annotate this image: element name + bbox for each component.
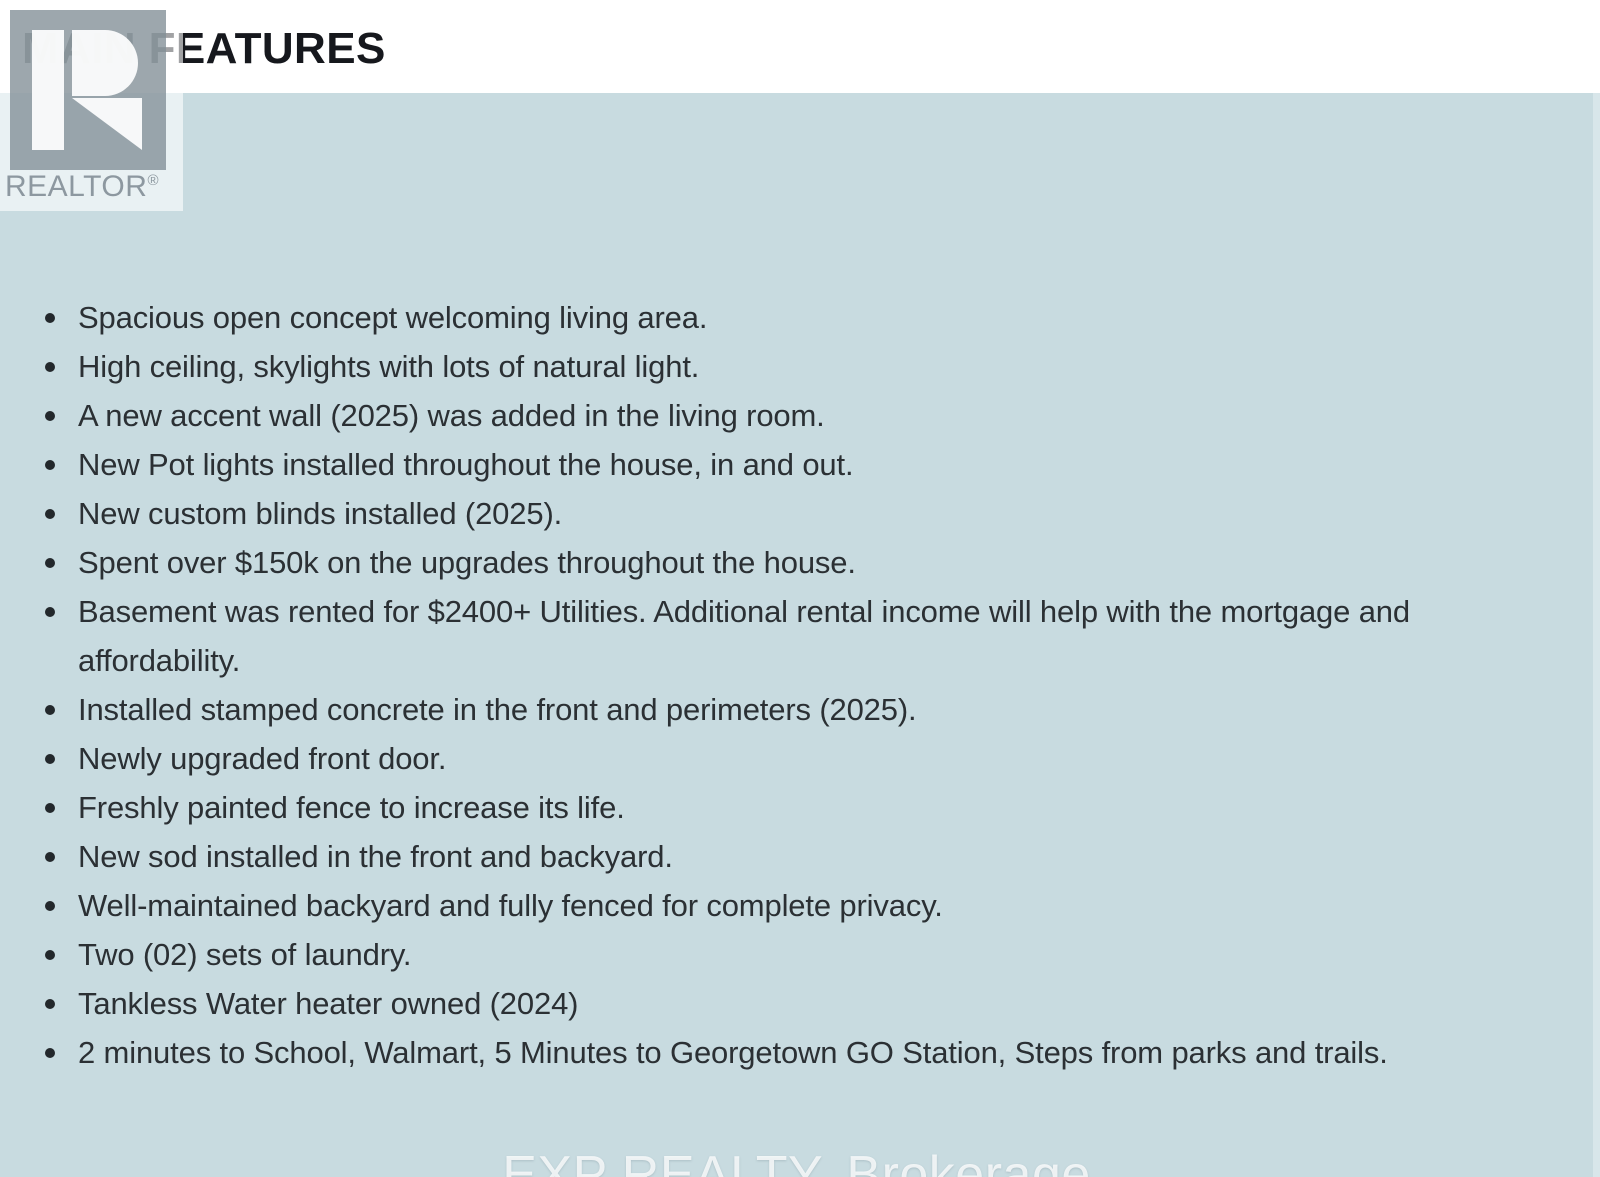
bullet-icon [45, 411, 55, 421]
list-item: High ceiling, skylights with lots of nat… [0, 342, 1480, 391]
list-item-label: New Pot lights installed throughout the … [78, 447, 853, 482]
bullet-icon [45, 901, 55, 911]
list-item-label: Spent over $150k on the upgrades through… [78, 545, 856, 580]
list-item-label: Well-maintained backyard and fully fence… [78, 888, 943, 923]
bullet-icon [45, 999, 55, 1009]
list-item-label: Two (02) sets of laundry. [78, 937, 411, 972]
list-item: Installed stamped concrete in the front … [0, 685, 1480, 734]
list-item: New Pot lights installed throughout the … [0, 440, 1480, 489]
bullet-icon [45, 705, 55, 715]
list-item-label: High ceiling, skylights with lots of nat… [78, 349, 699, 384]
list-item: 2 minutes to School, Walmart, 5 Minutes … [0, 1028, 1480, 1077]
list-item: Tankless Water heater owned (2024) [0, 979, 1480, 1028]
list-item-label: Basement was rented for $2400+ Utilities… [78, 594, 1410, 678]
list-item: Newly upgraded front door. [0, 734, 1480, 783]
features-panel: Spacious open concept welcoming living a… [0, 93, 1593, 1177]
list-item: New custom blinds installed (2025). [0, 489, 1480, 538]
list-item-label: Installed stamped concrete in the front … [78, 692, 917, 727]
list-item-label: New custom blinds installed (2025). [78, 496, 562, 531]
bullet-icon [45, 950, 55, 960]
header-band: MAIN FEATURES [0, 0, 1600, 93]
bullet-icon [45, 313, 55, 323]
list-item-label: A new accent wall (2025) was added in th… [78, 398, 825, 433]
bullet-icon [45, 1048, 55, 1058]
list-item-label: New sod installed in the front and backy… [78, 839, 673, 874]
page-title: MAIN FEATURES [22, 27, 386, 71]
bullet-icon [45, 607, 55, 617]
list-item-label: Tankless Water heater owned (2024) [78, 986, 578, 1021]
list-item: A new accent wall (2025) was added in th… [0, 391, 1480, 440]
list-item: New sod installed in the front and backy… [0, 832, 1480, 881]
bullet-icon [45, 509, 55, 519]
list-item: Freshly painted fence to increase its li… [0, 783, 1480, 832]
bullet-icon [45, 852, 55, 862]
brokerage-watermark: EXP REALTY, Brokerage [0, 1145, 1593, 1177]
feature-list: Spacious open concept welcoming living a… [0, 293, 1480, 1077]
bullet-icon [45, 803, 55, 813]
list-item: Basement was rented for $2400+ Utilities… [0, 587, 1480, 685]
list-item-label: 2 minutes to School, Walmart, 5 Minutes … [78, 1035, 1388, 1070]
bullet-icon [45, 558, 55, 568]
feature-sheet-page: MAIN FEATURES Spacious open concept welc… [0, 0, 1600, 1177]
list-item-label: Newly upgraded front door. [78, 741, 446, 776]
list-item: Spent over $150k on the upgrades through… [0, 538, 1480, 587]
list-item-label: Freshly painted fence to increase its li… [78, 790, 625, 825]
list-item: Two (02) sets of laundry. [0, 930, 1480, 979]
list-item-label: Spacious open concept welcoming living a… [78, 300, 707, 335]
bullet-icon [45, 754, 55, 764]
bullet-icon [45, 362, 55, 372]
bullet-icon [45, 460, 55, 470]
list-item: Well-maintained backyard and fully fence… [0, 881, 1480, 930]
list-item: Spacious open concept welcoming living a… [0, 293, 1480, 342]
right-edge-strip [1593, 93, 1600, 1177]
